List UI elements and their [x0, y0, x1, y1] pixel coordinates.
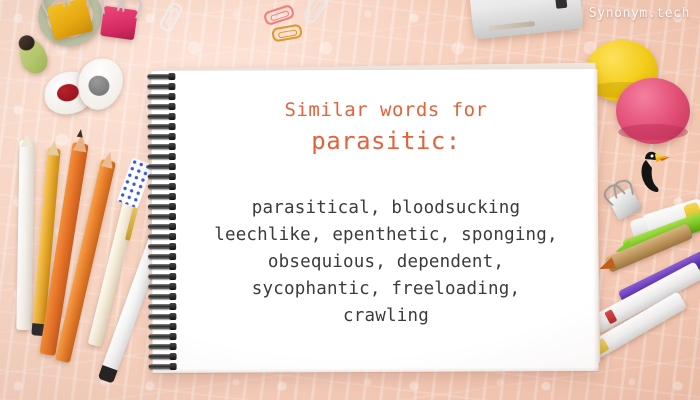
vignette-overlay	[0, 0, 700, 400]
screenshot-root: Similar words for parasitic: parasitical…	[0, 0, 700, 400]
